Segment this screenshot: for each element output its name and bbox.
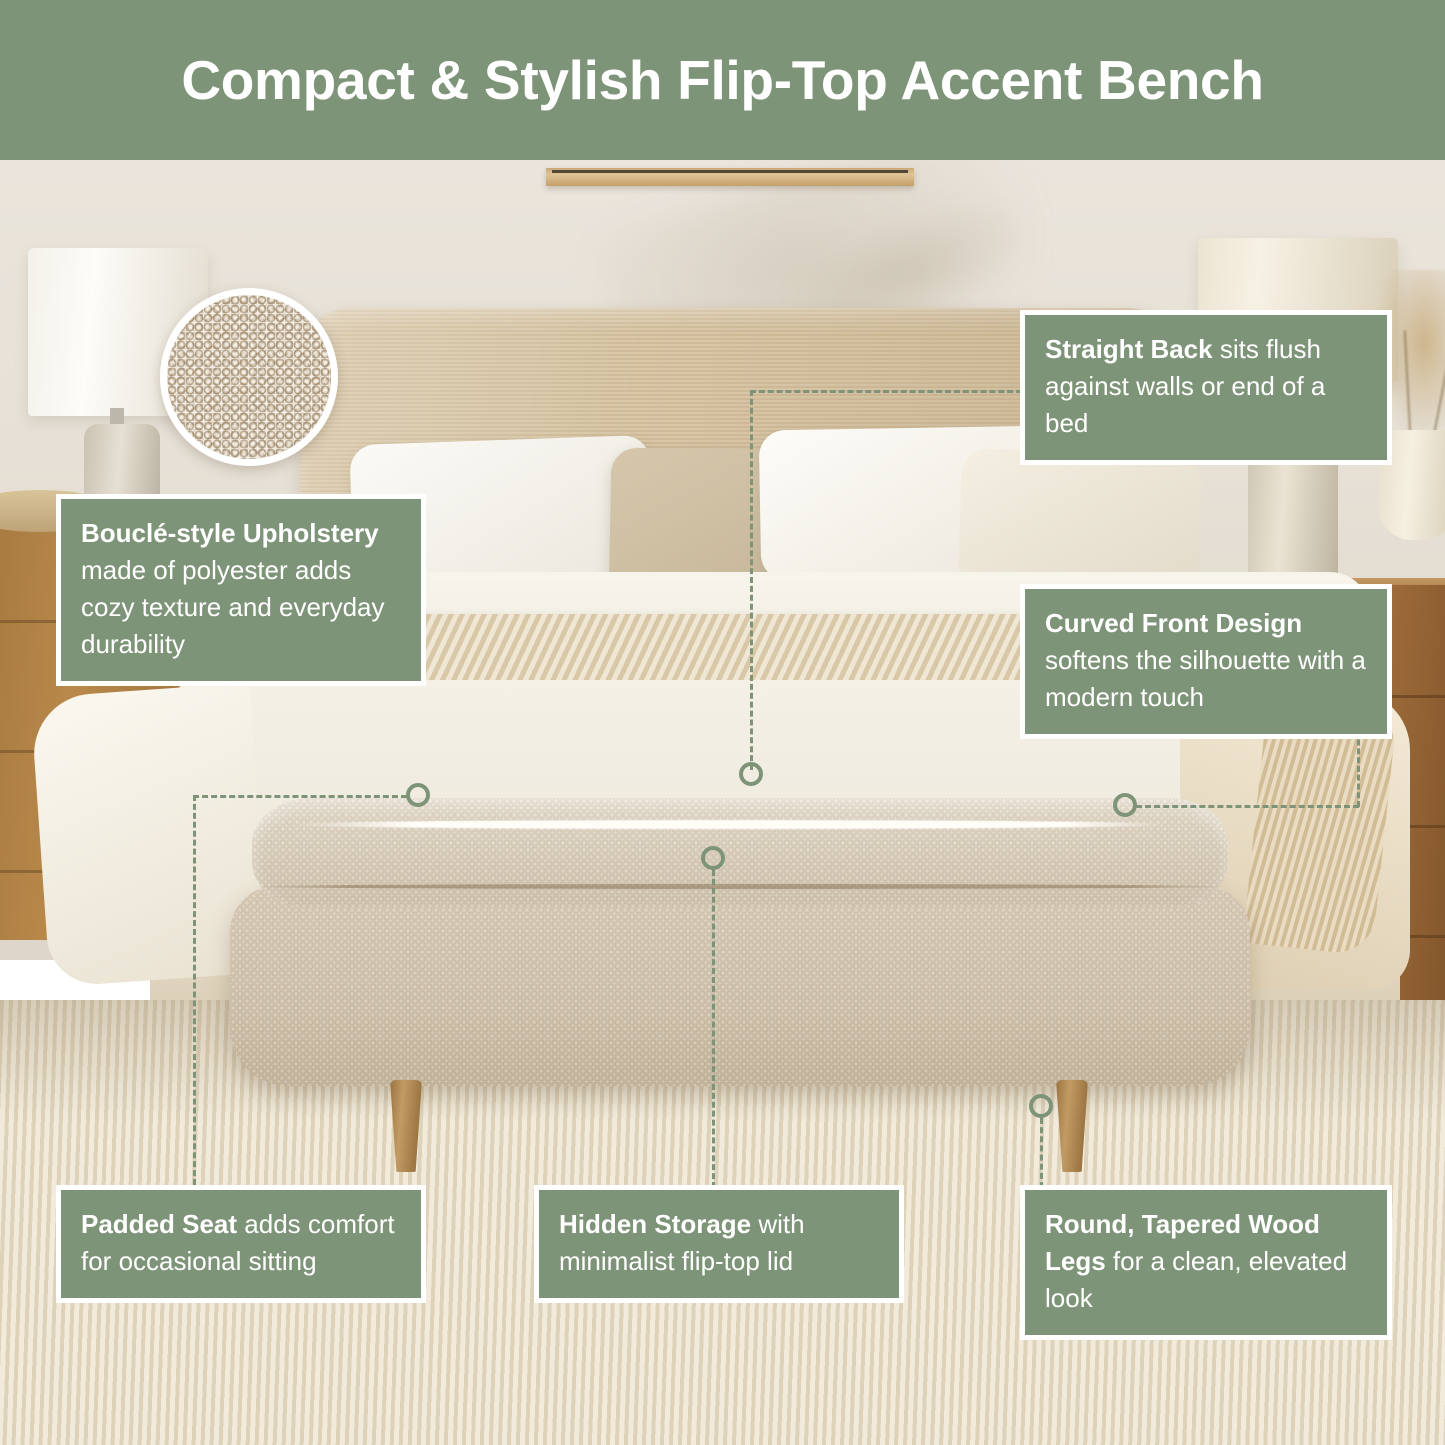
- bench-flip-top-lid: [252, 798, 1228, 908]
- callout-text: Round, Tapered Wood Legs for a clean, el…: [1045, 1206, 1367, 1317]
- header-bar: Compact & Stylish Flip-Top Accent Bench: [0, 0, 1445, 160]
- marker-straight-back: [739, 762, 763, 786]
- callout-padded-seat: Padded Seat adds comfort for occasional …: [56, 1185, 426, 1303]
- marker-wood-legs: [1029, 1094, 1053, 1118]
- leader-wood-legs-vertical: [1040, 1118, 1043, 1188]
- page-title: Compact & Stylish Flip-Top Accent Bench: [181, 53, 1263, 108]
- leader-straight-back-horizontal: [750, 390, 1022, 393]
- framed-art-bottom-rail: [546, 168, 914, 186]
- leader-hidden-storage-vertical: [712, 870, 715, 1188]
- callout-straight-back: Straight Back sits flush against walls o…: [1020, 310, 1392, 465]
- callout-body-text: made of polyester adds cozy texture and …: [81, 555, 385, 659]
- marker-hidden-storage: [701, 846, 725, 870]
- callout-text: Hidden Storage with minimalist flip-top …: [559, 1206, 879, 1280]
- boucle-texture: [160, 288, 338, 466]
- callout-text: Straight Back sits flush against walls o…: [1045, 331, 1367, 442]
- callout-bold-label: Hidden Storage: [559, 1209, 751, 1239]
- lid-seam: [250, 884, 1230, 889]
- callout-wood-legs: Round, Tapered Wood Legs for a clean, el…: [1020, 1185, 1392, 1340]
- callout-bold-label: Straight Back: [1045, 334, 1213, 364]
- boucle-fabric-swatch: [160, 288, 338, 466]
- callout-curved-front: Curved Front Design softens the silhouet…: [1020, 584, 1392, 739]
- flip-top-storage-bench: [230, 798, 1250, 1098]
- callout-text: Bouclé-style Upholstery made of polyeste…: [81, 515, 401, 663]
- callout-bold-label: Bouclé-style Upholstery: [81, 518, 379, 548]
- callout-bold-label: Curved Front Design: [1045, 608, 1302, 638]
- callout-body-text: softens the silhouette with a modern tou…: [1045, 645, 1366, 712]
- callout-bold-label: Padded Seat: [81, 1209, 237, 1239]
- marker-curved-front: [1113, 793, 1137, 817]
- callout-hidden-storage: Hidden Storage with minimalist flip-top …: [534, 1185, 904, 1303]
- marker-padded-seat: [406, 783, 430, 807]
- leader-padded-seat-vertical: [193, 795, 196, 1185]
- product-infographic: Compact & Stylish Flip-Top Accent Bench …: [0, 0, 1445, 1445]
- leader-curved-front-horizontal: [1136, 805, 1359, 808]
- bench-body: [230, 886, 1250, 1086]
- leader-straight-back-vertical: [750, 390, 753, 770]
- callout-text: Padded Seat adds comfort for occasional …: [81, 1206, 401, 1280]
- callout-boucle-upholstery: Bouclé-style Upholstery made of polyeste…: [56, 494, 426, 686]
- callout-text: Curved Front Design softens the silhouet…: [1045, 605, 1367, 716]
- leader-padded-seat-horizontal: [193, 795, 407, 798]
- lid-highlight: [290, 820, 1170, 829]
